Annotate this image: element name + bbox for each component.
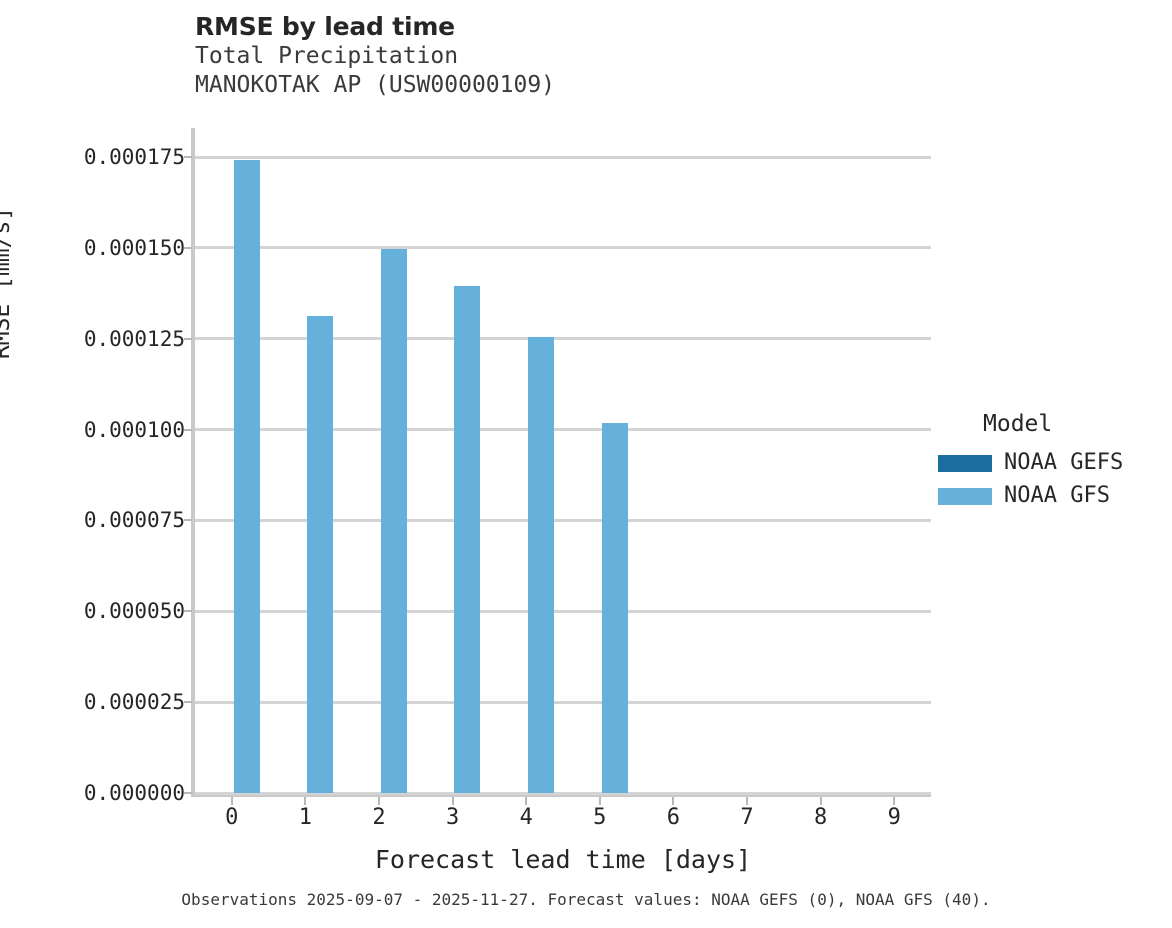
legend-entries: NOAA GEFSNOAA GFS <box>938 448 1168 511</box>
x-tick-label: 0 <box>212 807 252 829</box>
x-tick-label: 8 <box>801 807 841 829</box>
footnote: Observations 2025-09-07 - 2025-11-27. Fo… <box>0 890 1172 909</box>
legend-item[interactable]: NOAA GFS <box>938 481 1168 511</box>
legend-title: Model <box>983 410 1168 438</box>
x-tick-label: 7 <box>727 807 767 829</box>
legend: Model NOAA GEFSNOAA GFS <box>938 410 1168 514</box>
x-tick-label: 3 <box>433 807 473 829</box>
x-tick-label: 9 <box>874 807 914 829</box>
x-tick-label: 1 <box>285 807 325 829</box>
chart-figure: RMSE by lead time Total Precipitation MA… <box>0 0 1172 928</box>
legend-item-label: NOAA GFS <box>1004 485 1110 507</box>
legend-item-label: NOAA GEFS <box>1004 452 1123 474</box>
legend-item[interactable]: NOAA GEFS <box>938 448 1168 478</box>
x-tick-label: 5 <box>580 807 620 829</box>
legend-swatch-icon <box>938 488 992 505</box>
x-tick-label: 6 <box>653 807 693 829</box>
x-axis-title: Forecast lead time [days] <box>195 845 931 874</box>
x-tick-label: 2 <box>359 807 399 829</box>
x-tick-label: 4 <box>506 807 546 829</box>
legend-swatch-icon <box>938 455 992 472</box>
